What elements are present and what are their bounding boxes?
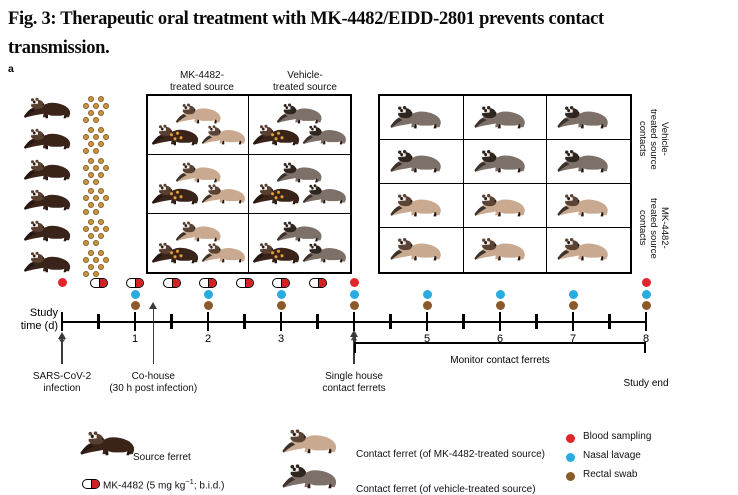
rectal-swab-marker — [350, 301, 359, 310]
drug-dose-capsule — [272, 278, 290, 288]
virus-particle-cluster — [80, 188, 114, 212]
virus-dot — [98, 110, 104, 116]
virus-dot — [103, 165, 109, 171]
nasal-lavage-marker — [131, 290, 140, 299]
label-vehicle-source-contacts: Vehicle- treated source contacts — [637, 97, 670, 181]
virus-dot — [98, 202, 104, 208]
heading-mk-treated-source: MK-4482- treated source — [163, 70, 241, 93]
label-mk-source-contacts: MK-4482- treated source contacts — [637, 186, 670, 270]
virus-dot — [93, 165, 99, 171]
nasal-lavage-marker — [277, 290, 286, 299]
cage-vehicle-treated-source — [248, 154, 350, 214]
axis-tick-label: 2 — [193, 333, 223, 345]
virus-dot — [98, 250, 104, 256]
axis-tick-major — [499, 312, 501, 331]
virus-dot — [98, 233, 104, 239]
drug-dose-capsule — [309, 278, 327, 288]
cage-mk-source-contact — [379, 227, 464, 272]
blood-sampling-marker — [350, 278, 359, 287]
virus-dot — [98, 264, 104, 270]
axis-tick-major — [280, 312, 282, 331]
nasal-lavage-marker — [350, 290, 359, 299]
virus-dot — [88, 233, 94, 239]
blood-sampling-marker — [58, 278, 67, 287]
source-cage-grid — [146, 94, 352, 274]
source-ferret-icon — [22, 246, 82, 274]
virus-dot — [103, 226, 109, 232]
legend-drug-label: MK-4482 (5 mg kg−1; b.i.d.) — [103, 477, 224, 491]
virus-dot — [88, 188, 94, 194]
virus-dot — [83, 226, 89, 232]
virus-particle-cluster — [80, 219, 114, 243]
contact-ferret-icon — [388, 144, 454, 174]
virus-particle-cluster — [80, 127, 114, 151]
axis-tick-minor — [608, 314, 610, 329]
legend-rectal-dot — [566, 472, 575, 481]
nasal-lavage-marker — [642, 290, 651, 299]
cage-vehicle-source-contact — [546, 139, 631, 184]
cohouse-arrow — [153, 308, 154, 364]
cohouse-label: Co-house (30 h post infection) — [78, 371, 228, 394]
legend-drug-exponent: −1 — [185, 477, 194, 486]
cage-vehicle-source-contact — [463, 95, 548, 140]
rectal-swab-marker — [423, 301, 432, 310]
virus-dot — [88, 264, 94, 270]
axis-tick-minor — [243, 314, 245, 329]
rectal-swab-marker — [277, 301, 286, 310]
single-house-label: Single house contact ferrets — [279, 371, 429, 394]
virus-dot — [98, 188, 104, 194]
drug-dose-capsule — [236, 278, 254, 288]
axis-tick-minor — [316, 314, 318, 329]
cage-vehicle-source-contact — [379, 139, 464, 184]
virus-dot — [83, 257, 89, 263]
axis-tick-minor — [170, 314, 172, 329]
virus-dot — [88, 96, 94, 102]
contact-ferret-icon — [301, 179, 350, 205]
virus-particle-cluster — [80, 158, 114, 182]
axis-tick-label: 1 — [120, 333, 150, 345]
legend-nasal-dot — [566, 453, 575, 462]
contact-ferret-icon — [200, 120, 249, 146]
drug-dose-capsule — [199, 278, 217, 288]
source-ferret-row — [22, 154, 137, 185]
virus-dot — [98, 96, 104, 102]
contact-ferret-icon — [200, 179, 249, 205]
cage-vehicle-treated-source — [248, 213, 350, 273]
virus-dot — [103, 103, 109, 109]
source-ferret-column — [22, 92, 137, 277]
drug-dose-capsule — [126, 278, 144, 288]
virus-dot — [93, 195, 99, 201]
virus-dot — [83, 271, 89, 277]
virus-dot — [88, 202, 94, 208]
cage-mk-source-contact — [379, 183, 464, 228]
virus-dot — [103, 134, 109, 140]
legend-contact-ferret-vehicle-icon — [280, 458, 350, 490]
virus-dot — [88, 172, 94, 178]
contact-ferret-icon — [555, 232, 621, 262]
virus-dot — [98, 127, 104, 133]
virus-dot — [98, 172, 104, 178]
legend-source-ferret-label: Source ferret — [133, 452, 191, 463]
virus-dot — [88, 141, 94, 147]
cage-vehicle-source-contact — [463, 139, 548, 184]
virus-dot — [88, 127, 94, 133]
contact-ferret-icon — [472, 144, 538, 174]
figure-title: Fig. 3: Therapeutic oral treatment with … — [8, 5, 708, 63]
axis-tick-minor — [389, 314, 391, 329]
source-ferret-row — [22, 215, 137, 246]
contact-ferret-icon — [301, 120, 350, 146]
virus-dot — [83, 134, 89, 140]
contact-ferret-icon — [388, 100, 454, 130]
virus-dot — [83, 103, 89, 109]
virus-dot — [103, 195, 109, 201]
cage-mk-source-contact — [463, 183, 548, 228]
axis-title: Study time (d) — [6, 307, 58, 333]
cage-mk-source-contact — [546, 227, 631, 272]
nasal-lavage-marker — [423, 290, 432, 299]
virus-particle-cluster — [80, 250, 114, 274]
virus-dot — [83, 195, 89, 201]
infection-arrow — [61, 338, 62, 364]
contact-cage-grid — [378, 94, 632, 274]
axis-tick-major — [426, 312, 428, 331]
legend-drug-tail: ; b.i.d.) — [194, 480, 225, 491]
legend-rectal-label: Rectal swab — [583, 469, 637, 480]
legend-nasal-label: Nasal lavage — [583, 450, 641, 461]
cage-vehicle-source-contact — [546, 95, 631, 140]
drug-dose-capsule — [90, 278, 108, 288]
source-ferret-row — [22, 123, 137, 154]
contact-ferret-icon — [555, 188, 621, 218]
source-ferret-row — [22, 184, 137, 215]
virus-dot — [88, 110, 94, 116]
study-end-label: Study end — [576, 378, 716, 389]
legend-contact-mk-label: Contact ferret (of MK-4482-treated sourc… — [356, 449, 545, 460]
cage-mk-source-contact — [463, 227, 548, 272]
study-timeline: Study time (d) 012345678 SARS-CoV-2 infe… — [0, 278, 738, 398]
cage-mk-treated-source — [147, 154, 249, 214]
cage-mk-treated-source — [147, 95, 249, 155]
virus-dot — [93, 271, 99, 277]
axis-tick-major — [134, 312, 136, 331]
nasal-lavage-marker — [569, 290, 578, 299]
source-ferret-row — [22, 92, 137, 123]
axis-tick-label: 3 — [266, 333, 296, 345]
cage-vehicle-treated-source — [248, 95, 350, 155]
nasal-lavage-marker — [204, 290, 213, 299]
cage-vehicle-source-contact — [379, 95, 464, 140]
virus-dot — [98, 158, 104, 164]
source-ferret-icon — [22, 123, 82, 151]
contact-ferret-icon — [555, 100, 621, 130]
virus-particle-cluster — [80, 96, 114, 120]
contact-ferret-icon — [472, 232, 538, 262]
axis-tick-minor — [535, 314, 537, 329]
contact-ferret-icon — [472, 188, 538, 218]
nasal-lavage-marker — [496, 290, 505, 299]
rectal-swab-marker — [642, 301, 651, 310]
virus-dot — [103, 257, 109, 263]
legend-blood-label: Blood sampling — [583, 431, 651, 442]
rectal-swab-marker — [569, 301, 578, 310]
cage-mk-source-contact — [546, 183, 631, 228]
virus-dot — [98, 141, 104, 147]
contact-ferret-icon — [472, 100, 538, 130]
axis-tick-major — [61, 312, 63, 331]
legend-contact-ferret-mk-icon — [280, 423, 350, 455]
virus-dot — [93, 134, 99, 140]
legend-drug-text: MK-4482 (5 mg kg — [103, 480, 185, 491]
rectal-swab-marker — [496, 301, 505, 310]
virus-dot — [88, 219, 94, 225]
cage-mk-treated-source — [147, 213, 249, 273]
legend-contact-vehicle-label: Contact ferret (of vehicle-treated sourc… — [356, 484, 536, 495]
monitor-bracket — [354, 342, 646, 353]
virus-dot — [88, 158, 94, 164]
axis-tick-major — [645, 312, 647, 331]
rectal-swab-marker — [204, 301, 213, 310]
contact-ferret-icon — [200, 238, 249, 264]
contact-ferret-icon — [388, 232, 454, 262]
drug-dose-capsule — [163, 278, 181, 288]
rectal-swab-marker — [131, 301, 140, 310]
legend-drug-capsule-icon — [82, 479, 100, 489]
axis-tick-major — [353, 312, 355, 331]
contact-ferret-icon — [388, 188, 454, 218]
virus-dot — [93, 226, 99, 232]
legend-blood-dot — [566, 434, 575, 443]
axis-tick-major — [572, 312, 574, 331]
virus-dot — [88, 250, 94, 256]
axis-tick-minor — [97, 314, 99, 329]
source-ferret-icon — [22, 154, 82, 182]
figure-legend: Source ferret MK-4482 (5 mg kg−1; b.i.d.… — [0, 425, 738, 491]
virus-dot — [93, 257, 99, 263]
virus-dot — [98, 219, 104, 225]
axis-tick-major — [207, 312, 209, 331]
source-ferret-icon — [22, 184, 82, 212]
virus-dot — [93, 103, 99, 109]
heading-vehicle-treated-source: Vehicle- treated source — [266, 70, 344, 93]
source-ferret-icon — [22, 92, 82, 120]
contact-ferret-icon — [301, 238, 350, 264]
monitor-contact-ferrets-label: Monitor contact ferrets — [354, 355, 646, 366]
contact-ferret-icon — [555, 144, 621, 174]
axis-tick-minor — [462, 314, 464, 329]
virus-dot — [83, 165, 89, 171]
source-ferret-row — [22, 246, 137, 277]
panel-label: a — [8, 63, 14, 75]
source-ferret-icon — [22, 215, 82, 243]
blood-sampling-marker — [642, 278, 651, 287]
